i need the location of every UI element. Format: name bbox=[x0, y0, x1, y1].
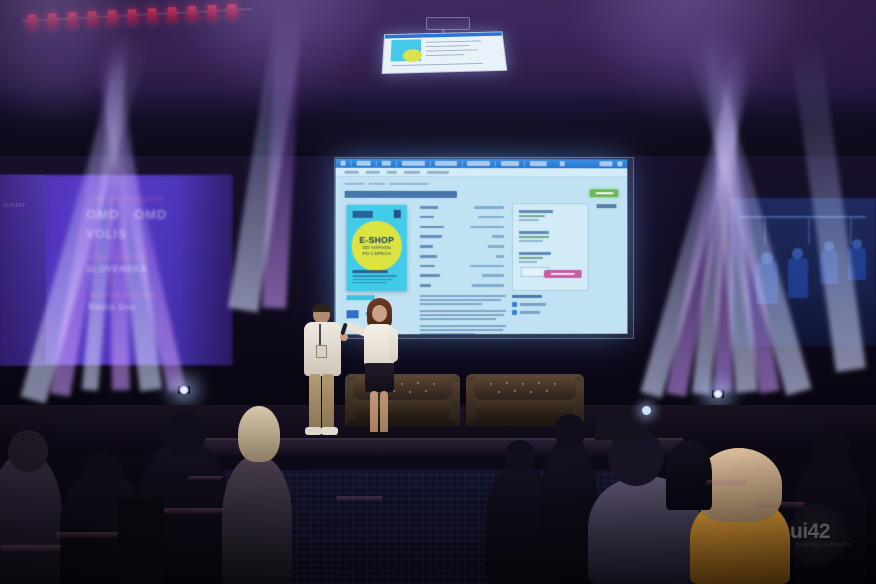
male-speaker-shoe bbox=[305, 427, 322, 435]
text-line bbox=[420, 303, 482, 305]
sofa-tuft bbox=[522, 383, 524, 385]
text-line bbox=[420, 329, 503, 331]
availability-heading bbox=[512, 295, 542, 298]
description-paragraph bbox=[420, 325, 506, 335]
truss-lamp-icon bbox=[227, 4, 237, 18]
order-option-note bbox=[519, 257, 543, 259]
sound-desk-lamp-icon bbox=[642, 406, 651, 415]
photo-canvas: PARTNERI PODUJATIA OMD OMD VOLIS HLAVNÝ … bbox=[0, 0, 876, 584]
spec-value bbox=[470, 265, 504, 268]
subnav-item-4 bbox=[427, 170, 449, 173]
book-cover-footer-line bbox=[353, 279, 394, 281]
spec-row bbox=[420, 245, 504, 248]
male-speaker bbox=[300, 305, 346, 440]
order-option-label bbox=[519, 252, 551, 255]
female-speaker-arm-right bbox=[389, 328, 398, 362]
audience-head bbox=[812, 430, 850, 468]
sofa-tuft bbox=[554, 383, 556, 385]
book-cover-footer bbox=[353, 270, 401, 285]
nav-item-6 bbox=[529, 161, 546, 166]
projection-figure-head bbox=[761, 252, 773, 264]
sofa-tuft bbox=[490, 383, 492, 385]
availability-item bbox=[512, 302, 588, 307]
text-line bbox=[420, 295, 506, 297]
order-option-note2 bbox=[519, 219, 539, 221]
projection-figure-head bbox=[824, 241, 834, 251]
publisher-logo-icon bbox=[394, 210, 401, 218]
spec-row bbox=[420, 216, 504, 219]
spec-row bbox=[420, 235, 504, 238]
projection-figure-head bbox=[792, 248, 803, 259]
order-option[interactable] bbox=[519, 252, 588, 263]
spec-key bbox=[420, 206, 438, 209]
sofa-tuft bbox=[425, 390, 427, 392]
store-marker-icon bbox=[512, 302, 517, 307]
text-line bbox=[420, 299, 501, 301]
nav-item-5 bbox=[501, 161, 519, 166]
male-speaker-hair bbox=[312, 304, 331, 312]
store-marker-icon bbox=[512, 310, 517, 315]
description-paragraph bbox=[420, 310, 506, 320]
text-line bbox=[420, 325, 506, 327]
order-option[interactable] bbox=[519, 231, 588, 242]
sofa-tuft bbox=[530, 391, 532, 393]
book-cover-title: E-SHOP bbox=[347, 235, 407, 245]
truss-lamp-icon bbox=[67, 12, 77, 26]
nav-separator bbox=[430, 160, 431, 166]
product-description bbox=[420, 295, 506, 334]
projection-figure-head bbox=[852, 239, 862, 249]
truss-lamp-icon bbox=[207, 5, 217, 19]
confidence-monitor-line bbox=[391, 63, 483, 66]
search-icon bbox=[560, 161, 565, 166]
spec-row bbox=[420, 226, 504, 229]
subnav-item-3 bbox=[404, 170, 420, 173]
order-option-note2 bbox=[519, 261, 537, 263]
seat-tray bbox=[705, 480, 747, 485]
buy-button-label bbox=[595, 192, 613, 195]
sofa-tuft bbox=[409, 391, 411, 393]
spec-value bbox=[478, 216, 504, 219]
audience-head bbox=[554, 414, 586, 448]
add-to-cart-button[interactable] bbox=[544, 270, 582, 278]
confidence-monitor-navbar bbox=[385, 32, 502, 38]
spec-value bbox=[492, 235, 504, 238]
spec-key bbox=[420, 284, 431, 287]
book-cover-subtitle-line2: PO ÚSPECH bbox=[362, 251, 391, 256]
description-paragraph bbox=[420, 295, 506, 305]
nav-item-3 bbox=[435, 161, 456, 166]
book-cover-footer-line bbox=[353, 276, 397, 278]
book-cover-footer-line bbox=[353, 282, 387, 284]
male-speaker-trousers bbox=[309, 374, 321, 430]
text-line bbox=[420, 314, 504, 316]
book-cover-image: E-SHOP OD NÁPADU PO ÚSPECH bbox=[347, 205, 407, 291]
book-cover-brand bbox=[353, 211, 373, 218]
nav-item-4 bbox=[467, 161, 490, 166]
store-name bbox=[520, 311, 540, 313]
audience-member bbox=[222, 455, 292, 584]
spec-key bbox=[420, 265, 435, 268]
projection-figure bbox=[820, 250, 838, 284]
sofa-seat bbox=[477, 400, 574, 416]
confidence-monitor-cover-circle bbox=[403, 49, 422, 62]
buy-button[interactable] bbox=[590, 189, 619, 197]
truss-lamp-icon bbox=[187, 6, 197, 20]
home-icon bbox=[341, 161, 346, 166]
confidence-monitor-cover bbox=[391, 39, 422, 61]
spec-row bbox=[420, 274, 504, 277]
truss-lamp-icon bbox=[28, 14, 38, 28]
sofa-tuft bbox=[498, 391, 500, 393]
subnav-item-1 bbox=[366, 170, 380, 173]
audience-head bbox=[8, 430, 48, 472]
ceiling-rail bbox=[426, 17, 470, 30]
projection-post bbox=[808, 218, 810, 244]
breadcrumb-segment bbox=[389, 182, 429, 184]
nav-separator bbox=[376, 160, 377, 166]
book-cover-footer-heading bbox=[353, 271, 388, 274]
cart-icon bbox=[617, 161, 622, 166]
order-option-note bbox=[519, 215, 545, 217]
truss-lamp-icon bbox=[107, 10, 117, 24]
projection-post bbox=[850, 218, 852, 244]
seat-tray bbox=[187, 476, 223, 480]
order-option-label bbox=[519, 210, 553, 213]
cart-label bbox=[600, 161, 612, 166]
audience-head-blonde bbox=[238, 406, 280, 462]
moving-head-fixture bbox=[178, 386, 190, 394]
subnav-item-2 bbox=[387, 170, 397, 173]
availability-section bbox=[512, 295, 588, 318]
truss-lamp-icon bbox=[167, 7, 177, 21]
spec-row bbox=[420, 265, 504, 268]
female-speaker-leg bbox=[370, 391, 378, 435]
spec-key bbox=[420, 255, 437, 258]
spec-key bbox=[420, 275, 440, 278]
sound-desk bbox=[594, 418, 650, 440]
subnav-item-0 bbox=[345, 170, 359, 173]
truss-lamp-icon bbox=[87, 11, 97, 25]
breadcrumb-segment bbox=[369, 182, 385, 184]
spec-value bbox=[472, 284, 504, 287]
text-line bbox=[420, 310, 506, 312]
audience-member bbox=[794, 454, 866, 584]
sofa-tuft bbox=[514, 390, 516, 392]
spec-value bbox=[496, 255, 504, 258]
spec-row bbox=[420, 206, 504, 209]
store-name bbox=[520, 303, 546, 305]
availability-item bbox=[512, 310, 588, 315]
sofa-tuft bbox=[417, 382, 419, 384]
confidence-monitor-line bbox=[426, 54, 464, 56]
sofa-backrest bbox=[474, 376, 576, 398]
nav-separator bbox=[495, 161, 496, 167]
confidence-monitor-line bbox=[426, 40, 481, 42]
order-option-note2 bbox=[519, 240, 543, 242]
male-speaker-lanyard-badge bbox=[319, 324, 321, 346]
product-spec-table bbox=[420, 206, 504, 294]
audience-member bbox=[666, 440, 712, 510]
projection-figure bbox=[788, 258, 808, 298]
seat-tray bbox=[0, 545, 61, 551]
right-camera-projection bbox=[730, 198, 876, 346]
male-speaker-trousers bbox=[322, 374, 334, 430]
sofa-tuft bbox=[546, 390, 548, 392]
spec-row bbox=[420, 284, 504, 287]
confidence-monitor-line bbox=[426, 49, 478, 51]
spec-key bbox=[420, 245, 433, 248]
moving-head-fixture bbox=[712, 390, 724, 398]
nav-separator bbox=[524, 161, 525, 167]
projection-post bbox=[764, 218, 766, 244]
text-line bbox=[420, 318, 496, 320]
sofa-tuft bbox=[401, 383, 403, 385]
nav-separator bbox=[351, 160, 352, 166]
spec-key bbox=[420, 226, 444, 229]
truss-lamp-icon bbox=[127, 9, 137, 23]
female-speaker-head bbox=[372, 305, 387, 322]
spec-value bbox=[482, 274, 504, 277]
order-option[interactable] bbox=[519, 210, 588, 221]
spec-key bbox=[420, 235, 442, 238]
left-wall-shading bbox=[0, 175, 232, 365]
spec-value bbox=[474, 206, 504, 209]
male-speaker-badge-card bbox=[316, 345, 327, 358]
confidence-monitor-line bbox=[426, 45, 470, 47]
projection-figure bbox=[848, 248, 866, 280]
nav-item-1 bbox=[382, 161, 391, 166]
spec-value bbox=[488, 245, 504, 248]
female-speaker-skirt bbox=[365, 363, 394, 392]
audience-head bbox=[82, 452, 122, 492]
projection-figure bbox=[756, 262, 778, 304]
sofa-tuft bbox=[433, 383, 435, 385]
order-options-box[interactable] bbox=[512, 203, 589, 291]
page-title bbox=[345, 191, 457, 198]
confidence-monitor-screen bbox=[383, 32, 507, 73]
add-to-cart-label bbox=[551, 273, 575, 275]
truss-lamp-icon bbox=[147, 8, 157, 22]
sofa-tuft bbox=[506, 382, 508, 384]
female-speaker bbox=[357, 300, 401, 443]
order-option-label bbox=[519, 231, 549, 234]
male-speaker-shoe bbox=[321, 427, 338, 435]
seat-tray bbox=[335, 496, 383, 501]
audience-head bbox=[164, 412, 206, 456]
projection-rail bbox=[740, 216, 866, 218]
price-label bbox=[597, 204, 617, 208]
spec-row bbox=[420, 255, 504, 258]
nav-separator bbox=[396, 160, 397, 166]
truss-lamp-icon bbox=[47, 13, 57, 27]
order-option-note bbox=[519, 236, 549, 238]
spec-value bbox=[470, 226, 504, 229]
nav-item-2 bbox=[402, 161, 425, 166]
nav-item-0 bbox=[357, 161, 371, 166]
audience-member bbox=[0, 452, 62, 584]
sofa-tuft bbox=[538, 382, 540, 384]
book-cover-subtitle: OD NÁPADU PO ÚSPECH bbox=[347, 245, 407, 257]
book-cover-subtitle-line1: OD NÁPADU bbox=[362, 245, 391, 250]
nav-separator bbox=[462, 161, 463, 167]
female-speaker-leg bbox=[380, 391, 388, 435]
breadcrumb bbox=[336, 177, 628, 188]
seat-back bbox=[118, 498, 164, 584]
audience-head bbox=[504, 440, 536, 474]
spec-key bbox=[420, 216, 434, 219]
confidence-monitor bbox=[382, 31, 508, 74]
breadcrumb-segment bbox=[345, 182, 365, 184]
seat-tray bbox=[755, 502, 805, 508]
